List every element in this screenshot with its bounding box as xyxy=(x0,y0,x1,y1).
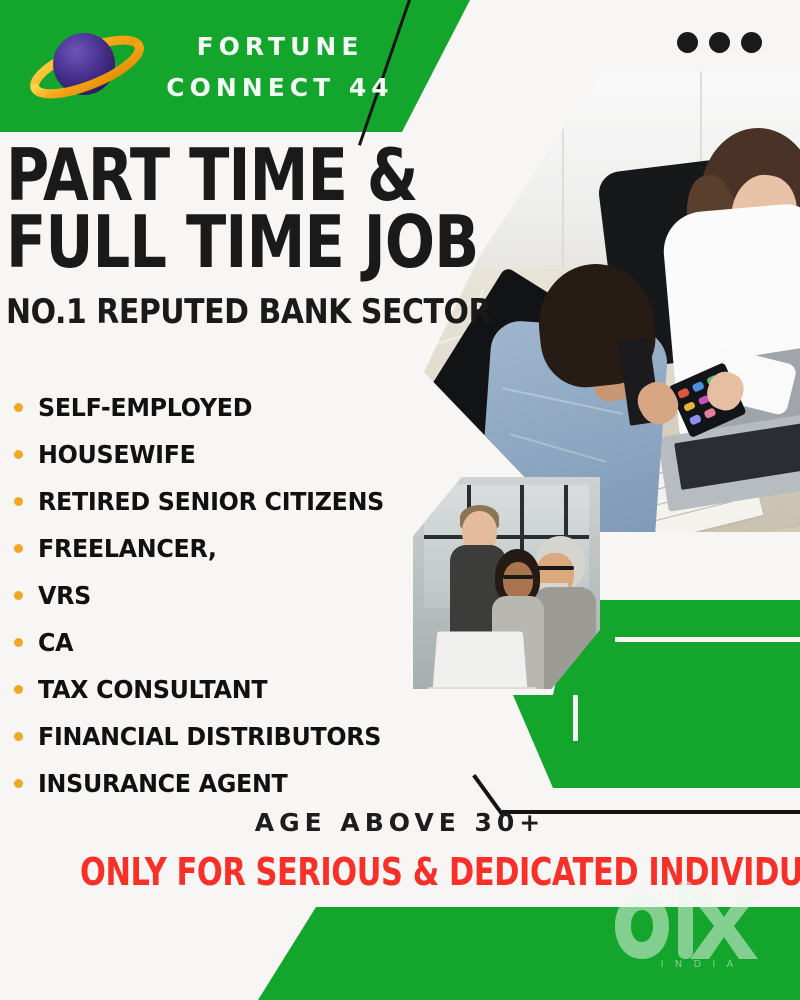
brand-line-1: FORTUNE xyxy=(160,26,400,67)
dot-2 xyxy=(709,32,730,53)
list-item: INSURANCE AGENT xyxy=(14,760,444,807)
headline-line-2: FULL TIME JOB xyxy=(6,209,391,276)
list-item: HOUSEWIFE xyxy=(14,431,444,478)
list-item-label: FREELANCER, xyxy=(38,534,217,563)
bullet-dot-icon xyxy=(14,685,23,694)
list-item: SELF-EMPLOYED xyxy=(14,384,444,431)
bullet-dot-icon xyxy=(14,403,23,412)
bullet-dot-icon xyxy=(14,450,23,459)
saturn-planet-icon xyxy=(26,18,148,116)
bottom-green-band xyxy=(0,907,800,1000)
brand-name: FORTUNE CONNECT 44 xyxy=(160,26,400,109)
eligible-candidates-list: SELF-EMPLOYED HOUSEWIFE RETIRED SENIOR C… xyxy=(14,384,444,807)
job-advertisement-poster: FORTUNE CONNECT 44 xyxy=(0,0,800,1000)
three-dots-icon xyxy=(677,32,762,53)
photo2-woman-glasses xyxy=(503,575,533,579)
list-item-label: SELF-EMPLOYED xyxy=(38,393,252,422)
list-item-label: HOUSEWIFE xyxy=(38,440,196,469)
headline-line-1: PART TIME & xyxy=(6,142,391,209)
photo2-woman-face xyxy=(503,562,533,600)
list-item: FINANCIAL DISTRIBUTORS xyxy=(14,713,444,760)
list-item: VRS xyxy=(14,572,444,619)
list-item: FREELANCER, xyxy=(14,525,444,572)
bullet-dot-icon xyxy=(14,544,23,553)
bullet-dot-icon xyxy=(14,779,23,788)
brand-line-2: CONNECT 44 xyxy=(160,67,400,108)
bullet-dot-icon xyxy=(14,591,23,600)
dot-1 xyxy=(677,32,698,53)
headline-subtitle: NO.1 REPUTED BANK SECTOR xyxy=(6,292,420,332)
list-item-label: FINANCIAL DISTRIBUTORS xyxy=(38,722,381,751)
bullet-dot-icon xyxy=(14,497,23,506)
list-item: CA xyxy=(14,619,444,666)
list-item-label: CA xyxy=(38,628,73,657)
list-item-label: RETIRED SENIOR CITIZENS xyxy=(38,487,384,516)
bullet-dot-icon xyxy=(14,732,23,741)
dot-3 xyxy=(741,32,762,53)
bullet-dot-icon xyxy=(14,638,23,647)
list-item: RETIRED SENIOR CITIZENS xyxy=(14,478,444,525)
list-item: TAX CONSULTANT xyxy=(14,666,444,713)
photo2-senior-man-glasses xyxy=(536,566,573,570)
list-item-label: VRS xyxy=(38,581,91,610)
list-item-label: INSURANCE AGENT xyxy=(38,769,287,798)
page-title: PART TIME & FULL TIME JOB NO.1 REPUTED B… xyxy=(6,142,476,332)
photo2-laptop xyxy=(433,631,528,689)
call-to-action-text: ONLY FOR SERIOUS & DEDICATED INDIVIDUALS xyxy=(80,850,720,894)
list-item-label: TAX CONSULTANT xyxy=(38,675,267,704)
age-requirement-text: AGE ABOVE 30+ xyxy=(0,808,800,837)
